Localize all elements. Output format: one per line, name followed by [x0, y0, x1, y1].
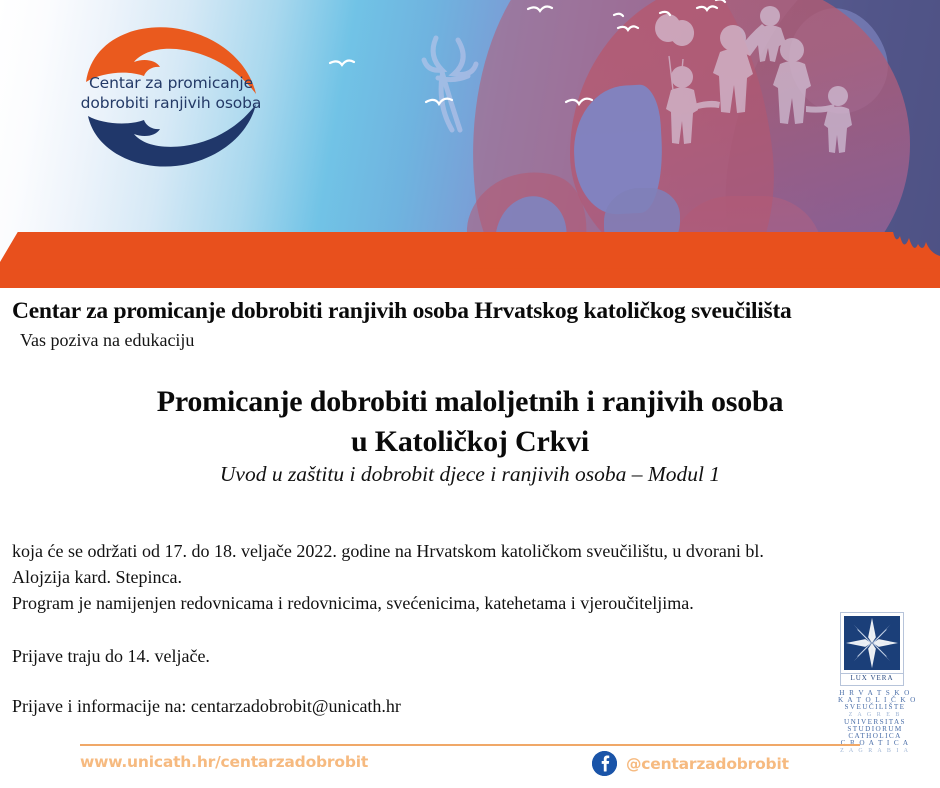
center-logo: Centar za promicanje dobrobiti ranjivih … [68, 22, 274, 174]
grass-strip [0, 232, 940, 288]
invitation-line: Vas poziva na edukaciju [20, 330, 194, 351]
footer-social-handle[interactable]: @centarzadobrobit [626, 755, 789, 773]
footer-website-link[interactable]: www.unicath.hr/centarzadobrobit [80, 753, 368, 771]
logo-wordmark: Centar za promicanje dobrobiti ranjivih … [68, 74, 274, 114]
title-line-1: Promicanje dobrobiti maloljetnih i ranji… [0, 382, 940, 422]
university-logo: LUX VERA H R V A T S K O K A T O L I Č K… [840, 612, 910, 740]
university-crest-box [840, 612, 904, 674]
page-title: Promicanje dobrobiti maloljetnih i ranji… [0, 382, 940, 461]
uni-word-8: Z A G R A B I A [838, 748, 912, 755]
title-line-2: u Katoličkoj Crkvi [0, 422, 940, 462]
poster-canvas: Centar za promicanje dobrobiti ranjivih … [0, 0, 940, 788]
registration-text: Prijave traju do 14. veljače. Prijave i … [12, 643, 612, 719]
body-line-3: Program je namijenjen redovnicama i redo… [12, 590, 892, 616]
footer-divider [80, 744, 860, 746]
university-motto: LUX VERA [840, 674, 904, 686]
star-burst-icon [844, 616, 900, 670]
spacer [12, 669, 612, 693]
facebook-icon[interactable] [592, 751, 617, 776]
registration-deadline: Prijave traju do 14. veljače. [12, 643, 612, 669]
body-line-2: Alojzija kard. Stepinca. [12, 564, 892, 590]
registration-contact: Prijave i informacije na: centarzadobrob… [12, 693, 612, 719]
logo-line-2: dobrobiti ranjivih osoba [68, 94, 274, 114]
body-text: koja će se održati od 17. do 18. veljače… [12, 538, 892, 616]
organizer-line: Centar za promicanje dobrobiti ranjivih … [12, 298, 928, 325]
subtitle: Uvod u zaštitu i dobrobit djece i ranjiv… [0, 462, 940, 487]
logo-line-1: Centar za promicanje [68, 74, 274, 94]
university-crest-field [844, 616, 900, 670]
uni-word-2: SVEUČILIŠTE [838, 704, 912, 711]
footer-social[interactable]: @centarzadobrobit [592, 751, 789, 776]
body-line-1: koja će se održati od 17. do 18. veljače… [12, 538, 892, 564]
